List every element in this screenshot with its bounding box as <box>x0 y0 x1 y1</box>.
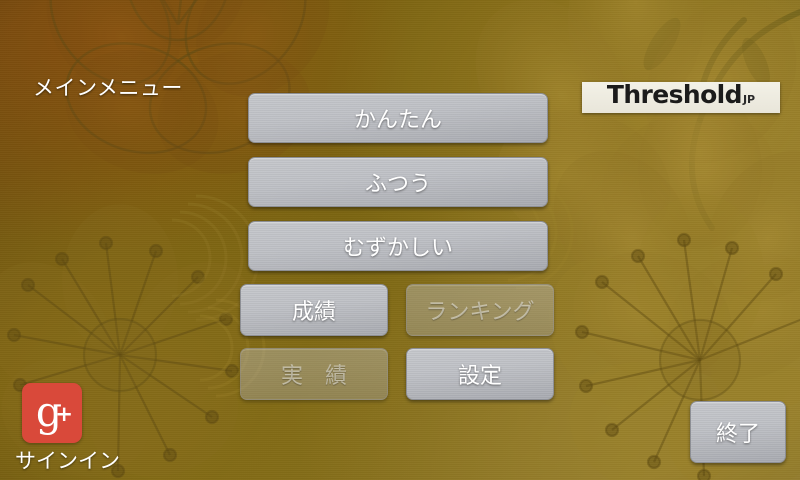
threshold-jp-logo: ThresholdJP <box>582 82 780 113</box>
page-title: メインメニュー <box>33 72 183 102</box>
menu-button-score[interactable]: 成績 <box>240 284 388 336</box>
difficulty-button-easy[interactable]: かんたん <box>248 93 548 143</box>
signin-label: サインイン <box>14 445 148 475</box>
menu-button-ranking: ランキング <box>406 284 554 336</box>
difficulty-button-hard[interactable]: むずかしい <box>248 221 548 271</box>
menu-button-achievements: 実績 <box>240 348 388 400</box>
google-plus-signin-button[interactable]: g + サインイン <box>14 383 148 475</box>
menu-button-settings[interactable]: 設定 <box>406 348 554 400</box>
google-plus-plus-glyph: + <box>55 404 73 425</box>
exit-button[interactable]: 終了 <box>690 401 786 463</box>
logo-region-suffix: JP <box>743 94 755 105</box>
game-main-menu-screen: メインメニュー ThresholdJP かんたん ふつう むずかしい 成績 ラン… <box>0 0 800 480</box>
google-plus-icon[interactable]: g + <box>22 383 82 443</box>
logo-wordmark: Threshold <box>607 82 742 107</box>
difficulty-button-normal[interactable]: ふつう <box>248 157 548 207</box>
